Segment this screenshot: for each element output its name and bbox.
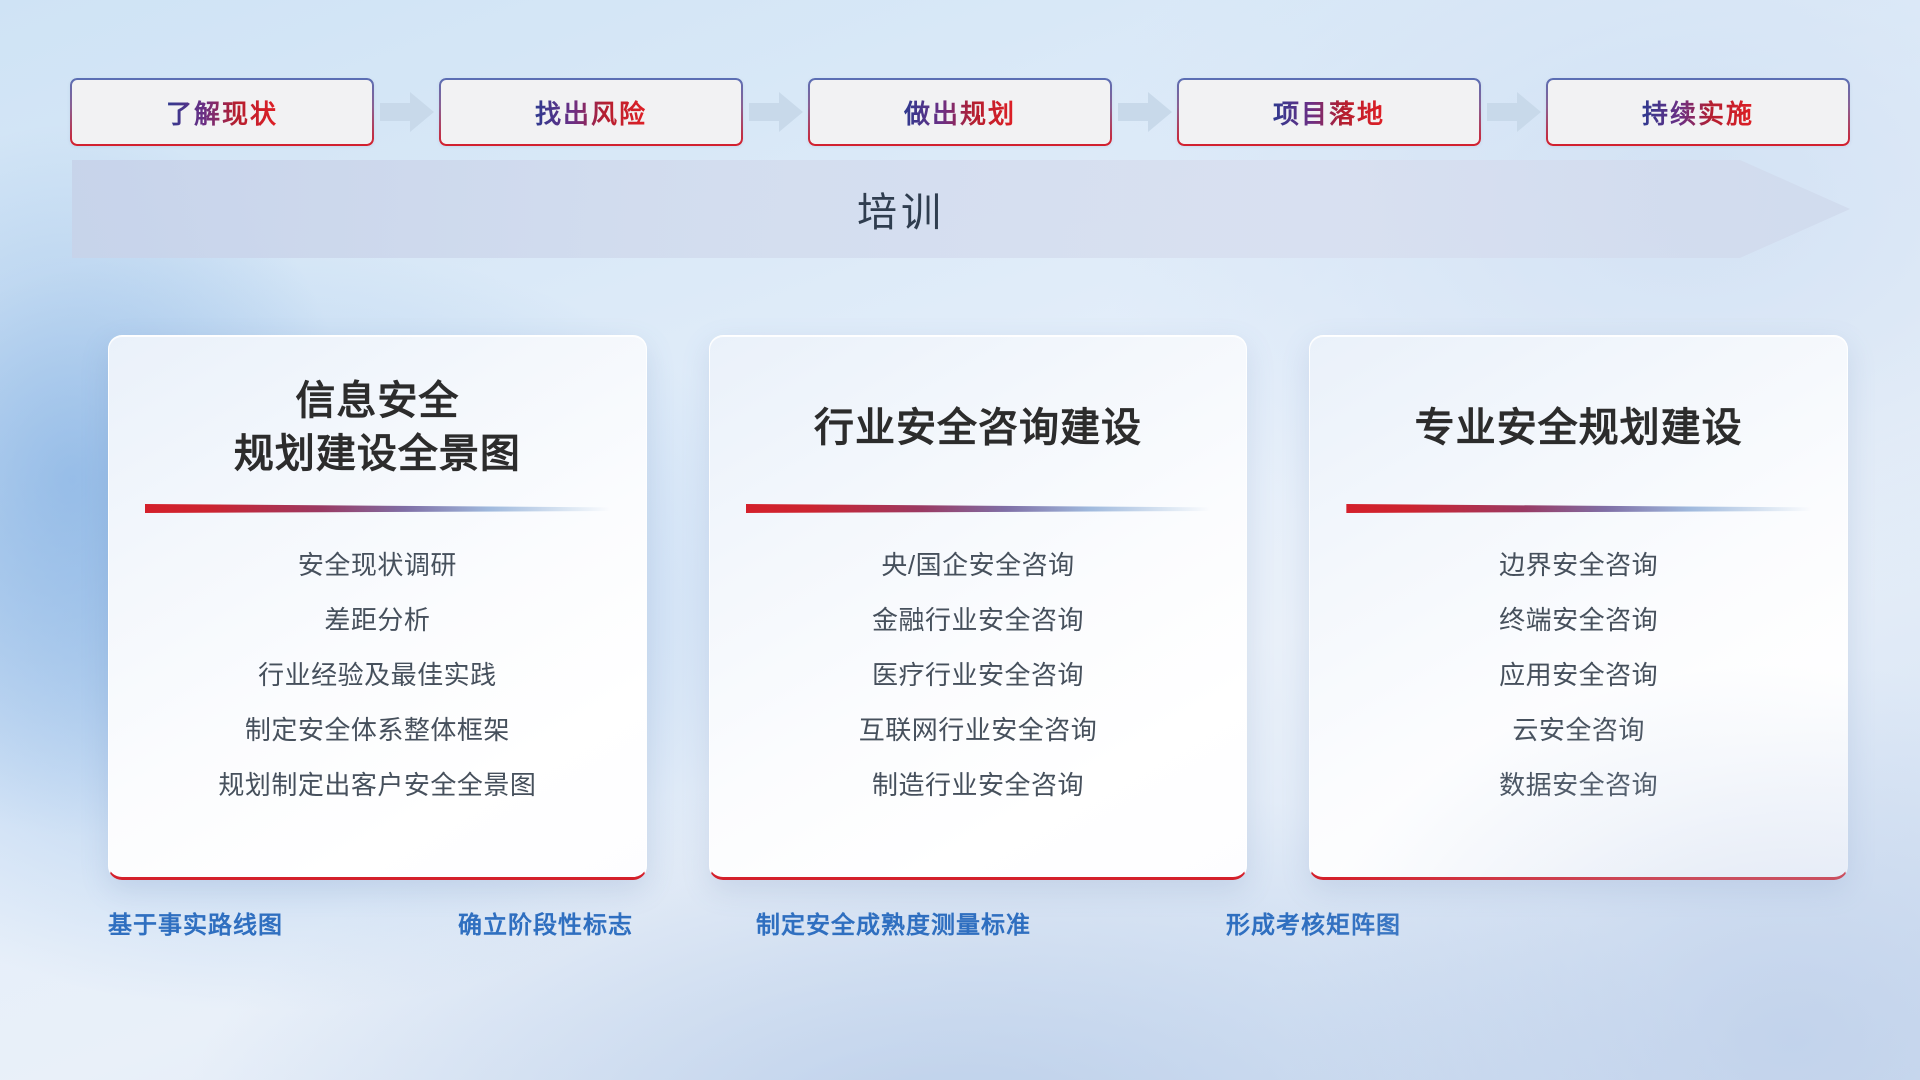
list-item: 云安全咨询 bbox=[1344, 710, 1813, 747]
right-arrow-icon bbox=[1118, 92, 1172, 132]
list-item: 互联网行业安全咨询 bbox=[744, 710, 1213, 747]
card-title: 行业安全咨询建设 bbox=[744, 372, 1213, 484]
step-arrow-3 bbox=[1112, 92, 1177, 132]
list-item: 金融行业安全咨询 bbox=[744, 600, 1213, 637]
step-chip-5[interactable]: 持续实施 bbox=[1546, 78, 1850, 146]
card-title: 信息安全 规划建设全景图 bbox=[143, 372, 612, 484]
list-item: 边界安全咨询 bbox=[1344, 545, 1813, 582]
card-group: 信息安全 规划建设全景图 安全现状调研 差距分析 行业经验及最佳实践 制定安全体… bbox=[108, 335, 1848, 880]
list-item: 安全现状调研 bbox=[143, 545, 612, 582]
card-3[interactable]: 专业安全规划建设 边界安全咨询 终端安全咨询 应用安全咨询 云安全咨询 数据安全… bbox=[1309, 335, 1848, 880]
list-item: 差距分析 bbox=[143, 600, 612, 637]
card-divider bbox=[145, 504, 610, 513]
card-1[interactable]: 信息安全 规划建设全景图 安全现状调研 差距分析 行业经验及最佳实践 制定安全体… bbox=[108, 335, 647, 880]
list-item: 制定安全体系整体框架 bbox=[143, 710, 612, 747]
step-chip-1[interactable]: 了解现状 bbox=[70, 78, 374, 146]
card-divider bbox=[1346, 504, 1811, 513]
footnote-4: 形成考核矩阵图 bbox=[1226, 905, 1401, 940]
step-chip-4[interactable]: 项目落地 bbox=[1177, 78, 1481, 146]
slide-canvas: 了解现状 找出风险 做出规划 项目落地 bbox=[0, 0, 1920, 1080]
card-divider bbox=[746, 504, 1211, 513]
footnote-1: 基于事实路线图 bbox=[108, 905, 283, 940]
list-item: 应用安全咨询 bbox=[1344, 655, 1813, 692]
step-label: 项目落地 bbox=[1273, 94, 1385, 131]
footnote-row: 基于事实路线图 确立阶段性标志 制定安全成熟度测量标准 形成考核矩阵图 bbox=[108, 905, 1848, 955]
card-column-2: 行业安全咨询建设 央/国企安全咨询 金融行业安全咨询 医疗行业安全咨询 互联网行… bbox=[709, 335, 1248, 880]
list-item: 行业经验及最佳实践 bbox=[143, 655, 612, 692]
card-column-3: 专业安全规划建设 边界安全咨询 终端安全咨询 应用安全咨询 云安全咨询 数据安全… bbox=[1309, 335, 1848, 880]
right-arrow-icon bbox=[1487, 92, 1541, 132]
list-item: 央/国企安全咨询 bbox=[744, 545, 1213, 582]
step-label: 了解现状 bbox=[166, 94, 278, 131]
list-item: 制造行业安全咨询 bbox=[744, 765, 1213, 802]
step-label: 持续实施 bbox=[1642, 94, 1754, 131]
step-label: 找出风险 bbox=[535, 94, 647, 131]
right-arrow-icon bbox=[380, 92, 434, 132]
card-item-list: 边界安全咨询 终端安全咨询 应用安全咨询 云安全咨询 数据安全咨询 bbox=[1344, 545, 1813, 802]
list-item: 终端安全咨询 bbox=[1344, 600, 1813, 637]
card-column-1: 信息安全 规划建设全景图 安全现状调研 差距分析 行业经验及最佳实践 制定安全体… bbox=[108, 335, 647, 880]
process-step-row: 了解现状 找出风险 做出规划 项目落地 bbox=[70, 78, 1850, 146]
list-item: 规划制定出客户安全全景图 bbox=[143, 765, 612, 802]
footnote-3: 制定安全成熟度测量标准 bbox=[756, 905, 1031, 940]
step-label: 做出规划 bbox=[904, 94, 1016, 131]
banner-label: 培训 bbox=[72, 160, 1730, 258]
training-banner: 培训 bbox=[72, 160, 1850, 258]
card-item-list: 安全现状调研 差距分析 行业经验及最佳实践 制定安全体系整体框架 规划制定出客户… bbox=[143, 545, 612, 802]
step-arrow-1 bbox=[374, 92, 439, 132]
step-arrow-4 bbox=[1481, 92, 1546, 132]
card-title: 专业安全规划建设 bbox=[1344, 372, 1813, 484]
step-chip-2[interactable]: 找出风险 bbox=[439, 78, 743, 146]
right-arrow-icon bbox=[749, 92, 803, 132]
step-chip-3[interactable]: 做出规划 bbox=[808, 78, 1112, 146]
list-item: 医疗行业安全咨询 bbox=[744, 655, 1213, 692]
footnote-2: 确立阶段性标志 bbox=[458, 905, 633, 940]
step-arrow-2 bbox=[743, 92, 808, 132]
card-2[interactable]: 行业安全咨询建设 央/国企安全咨询 金融行业安全咨询 医疗行业安全咨询 互联网行… bbox=[709, 335, 1248, 880]
list-item: 数据安全咨询 bbox=[1344, 765, 1813, 802]
card-item-list: 央/国企安全咨询 金融行业安全咨询 医疗行业安全咨询 互联网行业安全咨询 制造行… bbox=[744, 545, 1213, 802]
